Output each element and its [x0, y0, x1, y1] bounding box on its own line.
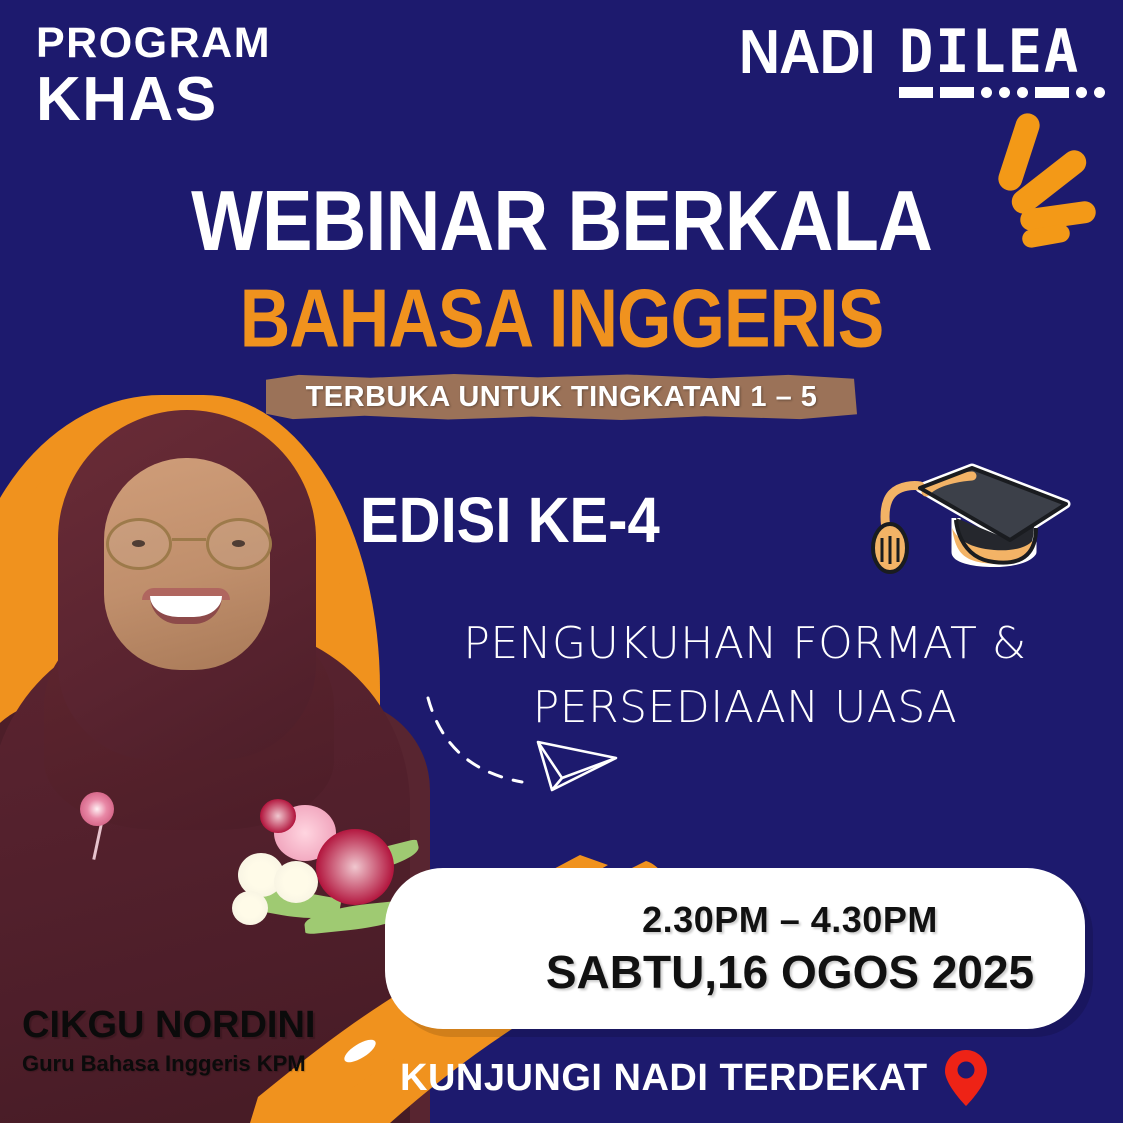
presenter-role: Guru Bahasa Inggeris KPM: [22, 1051, 315, 1077]
nadi-dilea-logo: NADI DILEA: [733, 24, 1105, 98]
program-heading-block: PROGRAM KHAS: [36, 22, 271, 132]
schedule-time: 2.30PM – 4.30PM: [642, 899, 938, 941]
logo-nadi-text: NADI: [739, 24, 875, 83]
edition-label: EDISI KE-4: [360, 484, 660, 558]
graduation-cap-icon: [860, 452, 1080, 582]
eligibility-banner-text: TERBUKA UNTUK TINGKATAN 1 – 5: [263, 373, 860, 421]
footer-cta-text: KUNJUNGI NADI TERDEKAT: [400, 1057, 928, 1100]
main-heading-line2: BAHASA INGGERIS: [0, 271, 1123, 365]
presenter-name: CIKGU NORDINI: [22, 1006, 315, 1046]
subtitle-line1: PENGUKUHAN FORMAT &: [400, 612, 1090, 676]
schedule-date: SABTU,16 OGOS 2025: [546, 945, 1034, 999]
main-heading-line1: WEBINAR BERKALA: [0, 173, 1123, 270]
logo-dilea-text: DILEA: [899, 24, 1095, 81]
subtitle-block: PENGUKUHAN FORMAT & PERSEDIAAN UASA: [400, 612, 1090, 740]
footer-cta: KUNJUNGI NADI TERDEKAT: [400, 1049, 988, 1107]
poster-canvas: PROGRAM KHAS NADI DILEA WEBINAR BERKALA …: [0, 0, 1123, 1123]
program-label: PROGRAM: [36, 22, 271, 65]
schedule-card: 2.30PM – 4.30PM SABTU,16 OGOS 2025: [385, 868, 1085, 1029]
presenter-info: CIKGU NORDINI Guru Bahasa Inggeris KPM: [22, 1006, 315, 1077]
glasses-icon: [96, 518, 282, 570]
program-name: KHAS: [36, 67, 271, 132]
eligibility-banner: TERBUKA UNTUK TINGKATAN 1 – 5: [263, 373, 860, 421]
location-pin-icon: [944, 1049, 988, 1107]
subtitle-line2: PERSEDIAAN UASA: [400, 676, 1090, 740]
logo-morse-decoration: [899, 87, 1105, 98]
flower-brooch-icon: [80, 792, 114, 826]
